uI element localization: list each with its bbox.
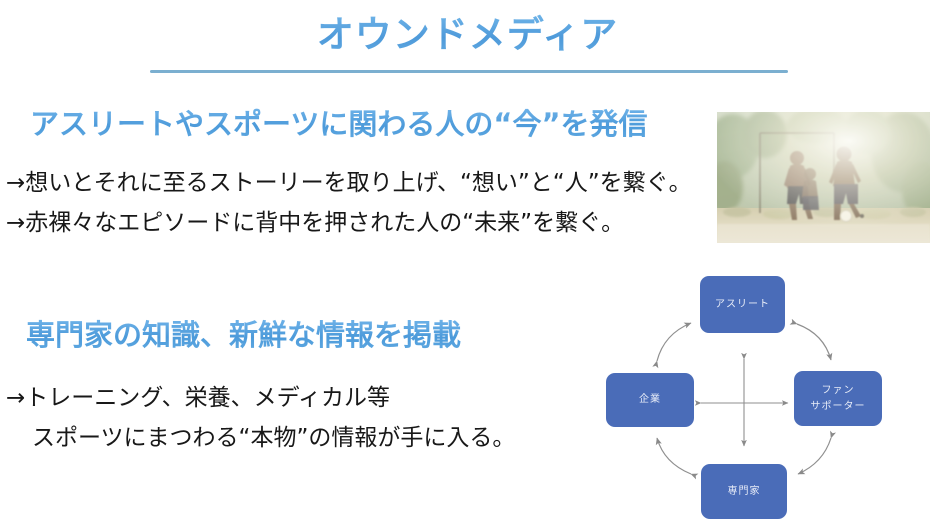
diagram-node-expert-label: 専門家 — [728, 484, 761, 500]
slide-canvas: オウンドメディア アスリートやスポーツに関わる人の“今”を発信 →想いとそれに至… — [0, 0, 935, 528]
arrow-expert-company — [657, 438, 691, 474]
stakeholder-cycle-diagram: アスリート 企業 ファン サポーター 専門家 — [600, 266, 935, 528]
diagram-node-fan-label-2: サポーター — [811, 399, 866, 415]
section-2-line-2: スポーツにまつわる“本物”の情報が手に入る。 — [32, 418, 515, 452]
diagram-node-athlete-label: アスリート — [715, 297, 770, 313]
diagram-node-expert[interactable]: 専門家 — [701, 464, 787, 519]
diagram-node-company[interactable]: 企業 — [606, 373, 694, 427]
diagram-node-fan-label-1: ファン — [822, 383, 855, 399]
photo-soccer-kids — [717, 112, 930, 243]
section-1-line-2: →赤裸々なエピソードに背中を押された人の“未来”を繋ぐ。 — [6, 203, 624, 237]
diagram-node-fan[interactable]: ファン サポーター — [794, 371, 882, 426]
arrow-athlete-fan — [797, 324, 831, 360]
section-heading-2: 専門家の知識、新鮮な情報を掲載 — [26, 312, 461, 354]
diagram-node-athlete[interactable]: アスリート — [700, 276, 785, 333]
diagram-node-company-label: 企業 — [639, 392, 661, 408]
photo-illustration — [717, 112, 930, 243]
page-title: オウンドメディア — [317, 14, 618, 57]
title-divider — [150, 70, 788, 73]
section-2-line-1: →トレーニング、栄養、メディカル等 — [6, 378, 390, 412]
arrow-company-athlete — [657, 323, 691, 361]
section-heading-1: アスリートやスポーツに関わる人の“今”を発信 — [30, 101, 648, 143]
title-block: オウンドメディア — [0, 14, 935, 57]
section-1-line-1: →想いとそれに至るストーリーを取り上げ、“想い”と“人”を繋ぐ。 — [6, 163, 692, 197]
arrow-fan-expert — [798, 438, 831, 474]
